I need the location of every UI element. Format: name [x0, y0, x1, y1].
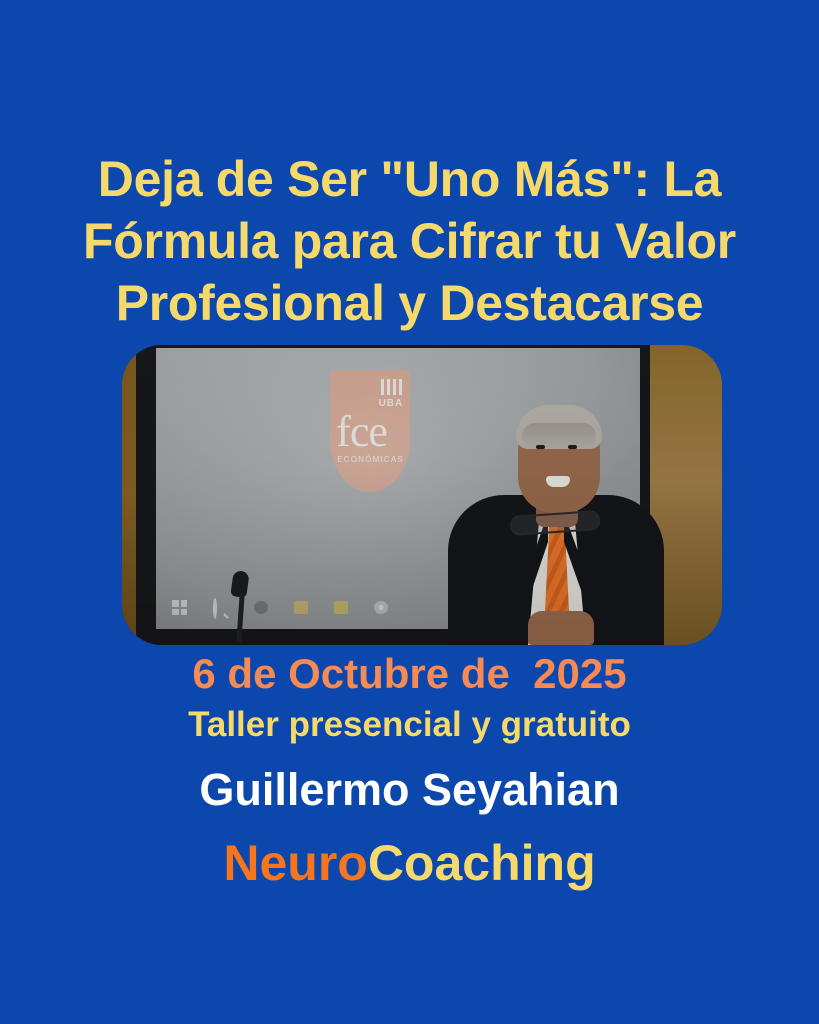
- promo-poster: Deja de Ser "Uno Más": La Fórmula para C…: [0, 0, 819, 1024]
- microphone-icon: [232, 571, 246, 645]
- page-title: Deja de Ser "Uno Más": La Fórmula para C…: [0, 148, 819, 334]
- eye-left: [536, 445, 545, 449]
- speaker-name: Guillermo Seyahian: [0, 762, 819, 818]
- title-line-3: Profesional y Destacarse: [0, 272, 819, 334]
- brand-part-two: Coaching: [368, 835, 596, 891]
- event-subtitle: Taller presencial y gratuito: [0, 703, 819, 747]
- mouth: [546, 476, 570, 487]
- brand-name: NeuroCoaching: [0, 832, 819, 894]
- event-date: 6 de Octubre de 2025: [0, 648, 819, 700]
- speaker-figure: [436, 387, 676, 645]
- microphone-stem: [236, 593, 244, 643]
- photo-inner: UBA fce ECONÓMICAS 1874 2024: [122, 345, 722, 645]
- projection-screen-frame: UBA fce ECONÓMICAS 1874 2024: [136, 345, 650, 645]
- title-line-2: Fórmula para Cifrar tu Valor: [0, 210, 819, 272]
- wall-left-panel: [122, 345, 136, 645]
- title-line-1: Deja de Ser "Uno Más": La: [0, 148, 819, 210]
- hair: [516, 405, 602, 449]
- eye-right: [568, 445, 577, 449]
- brand-part-one: Neuro: [223, 835, 367, 891]
- speaker-photo: UBA fce ECONÓMICAS 1874 2024: [122, 345, 722, 645]
- hands: [528, 611, 594, 645]
